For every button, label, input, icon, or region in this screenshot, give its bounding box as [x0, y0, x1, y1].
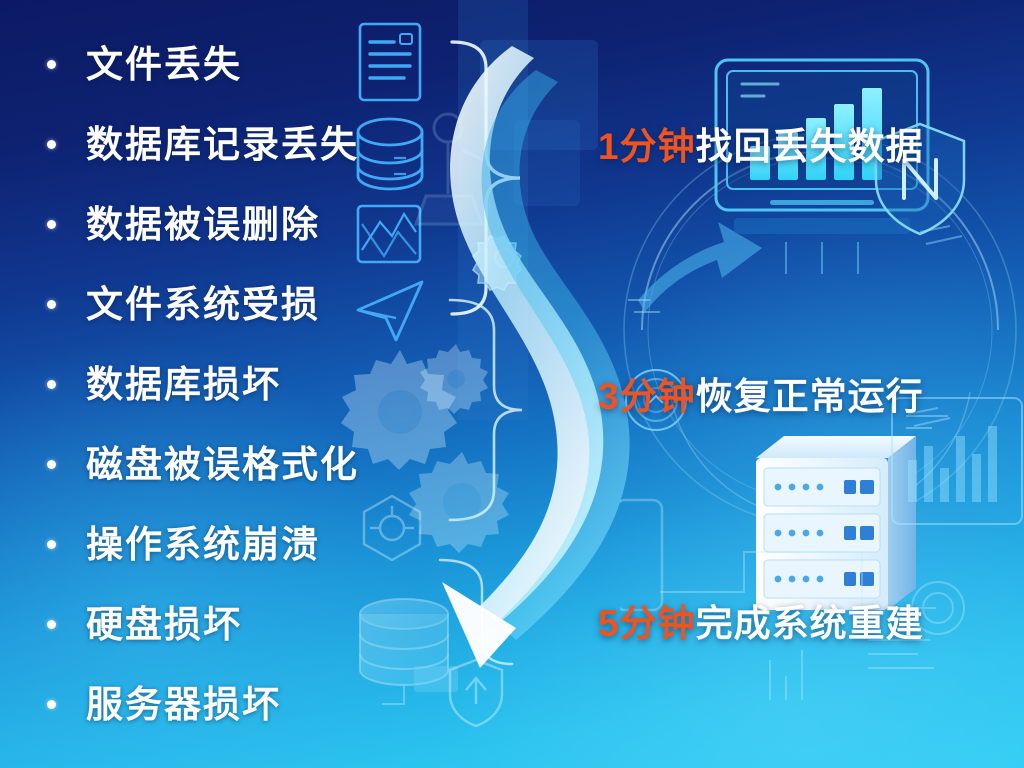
list-item-label: 数据库损坏: [86, 366, 281, 403]
headline-accent-time: 5分钟: [598, 603, 696, 644]
bullet-dot-icon: [47, 700, 56, 709]
headline-recover-data: 1分钟找回丢失数据: [598, 128, 924, 165]
list-item-label: 磁盘被误格式化: [86, 446, 359, 483]
list-item-label: 服务器损坏: [86, 686, 281, 723]
headline-restore-operation: 3分钟恢复正常运行: [598, 378, 924, 415]
problem-list: 文件丢失 数据库记录丢失 数据被误删除 文件系统受损 数据库损坏 磁盘被误格式化…: [38, 34, 438, 734]
bullet-dot-icon: [47, 220, 56, 229]
list-item-label: 操作系统崩溃: [86, 526, 320, 563]
bullet-dot-icon: [47, 620, 56, 629]
bullet-dot-icon: [47, 140, 56, 149]
list-item[interactable]: 数据被误删除: [38, 194, 438, 254]
list-item[interactable]: 磁盘被误格式化: [38, 434, 438, 494]
list-item[interactable]: 操作系统崩溃: [38, 514, 438, 574]
list-item-label: 硬盘损坏: [86, 606, 242, 643]
headline-main-text: 恢复正常运行: [696, 376, 924, 417]
headline-main-text: 找回丢失数据: [696, 126, 924, 167]
headline-accent-time: 3分钟: [598, 376, 696, 417]
list-item[interactable]: 服务器损坏: [38, 674, 438, 734]
list-item-label: 数据库记录丢失: [86, 126, 359, 163]
bullet-dot-icon: [47, 380, 56, 389]
headline-rebuild-system: 5分钟完成系统重建: [598, 605, 924, 642]
headline-main-text: 完成系统重建: [696, 603, 924, 644]
bullet-dot-icon: [47, 60, 56, 69]
headline-accent-time: 1分钟: [598, 126, 696, 167]
list-item-label: 数据被误删除: [86, 206, 320, 243]
bullet-dot-icon: [47, 460, 56, 469]
bullet-dot-icon: [47, 300, 56, 309]
bullet-dot-icon: [47, 540, 56, 549]
list-item-label: 文件丢失: [86, 46, 242, 83]
list-item[interactable]: 数据库损坏: [38, 354, 438, 414]
list-item[interactable]: 数据库记录丢失: [38, 114, 438, 174]
slide-canvas: 文件丢失 数据库记录丢失 数据被误删除 文件系统受损 数据库损坏 磁盘被误格式化…: [0, 0, 1024, 768]
list-item[interactable]: 文件丢失: [38, 34, 438, 94]
list-item[interactable]: 文件系统受损: [38, 274, 438, 334]
list-item-label: 文件系统受损: [86, 286, 320, 323]
list-item[interactable]: 硬盘损坏: [38, 594, 438, 654]
arc-arrow-icon: [638, 222, 762, 312]
